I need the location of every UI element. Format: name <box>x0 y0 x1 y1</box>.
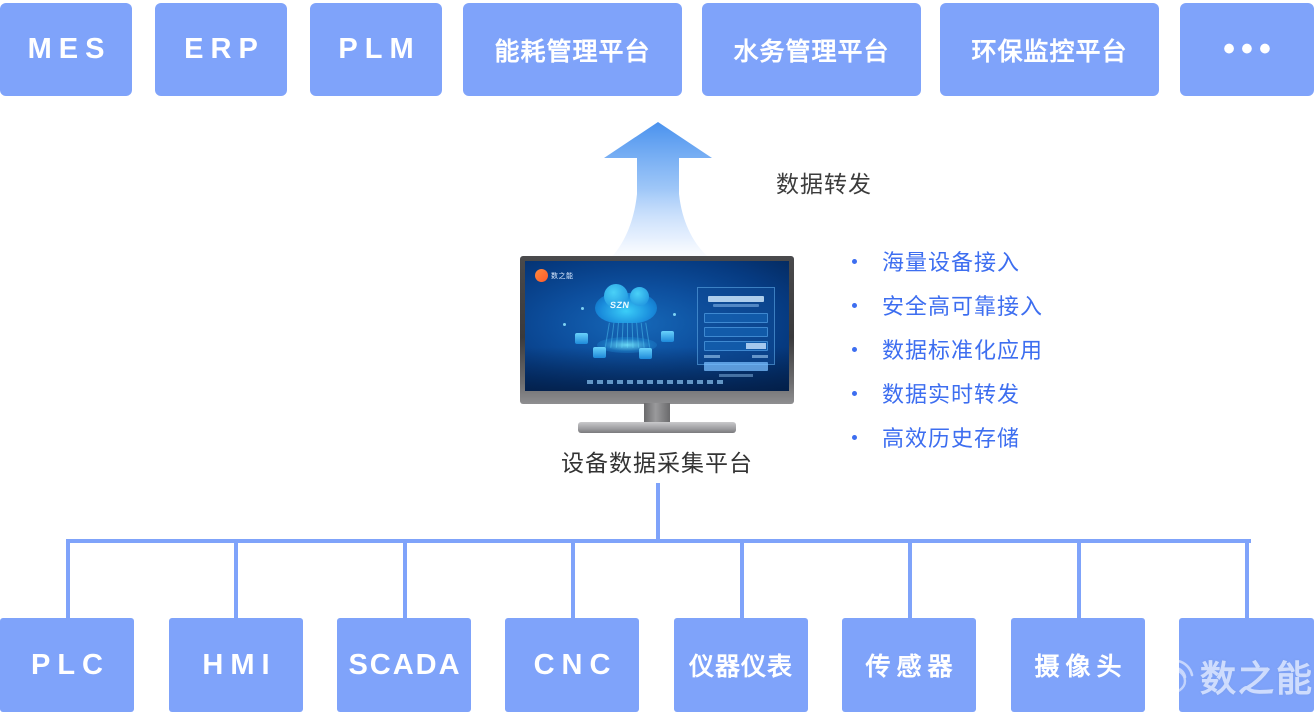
connector-drop-8 <box>1245 539 1249 619</box>
screen-ticker <box>587 380 727 384</box>
bottom-box-label: 仪器仪表 <box>689 647 793 683</box>
connector-drop-2 <box>234 539 238 619</box>
bottom-box-plc[interactable]: PLC <box>0 618 134 712</box>
top-box-label: PLM <box>331 33 420 66</box>
cloud-label: SZN <box>609 300 630 310</box>
connector-drop-1 <box>66 539 70 619</box>
center-caption: 设备数据采集平台 <box>520 444 794 478</box>
login-password-field <box>704 327 768 337</box>
list-item: 数据标准化应用 <box>852 333 1112 365</box>
connector-drop-4 <box>571 539 575 619</box>
login-footer-bar <box>719 374 753 377</box>
login-remember-bar <box>704 355 720 358</box>
connector-drop-6 <box>908 539 912 619</box>
bullet-dot-icon <box>852 303 857 308</box>
bottom-box-cnc[interactable]: CNC <box>505 618 639 712</box>
top-box-label: 能耗管理平台 <box>494 32 650 68</box>
top-box-water-platform[interactable]: 水务管理平台 <box>702 3 921 96</box>
bullet-dot-icon <box>852 391 857 396</box>
top-box-more[interactable]: ••• <box>1180 3 1314 96</box>
up-arrow-icon <box>588 122 738 270</box>
monitor-bezel: 数之能 SZN <box>520 256 794 404</box>
login-options-row <box>704 355 768 358</box>
bullet-dot-icon <box>852 259 857 264</box>
node-icon <box>593 347 606 358</box>
bullet-dot-icon <box>852 435 857 440</box>
watermark-text: 数之能 <box>1200 650 1314 702</box>
top-box-label: MES <box>21 33 112 66</box>
top-box-environment-platform[interactable]: 环保监控平台 <box>940 3 1159 96</box>
login-forgot-bar <box>752 355 768 358</box>
connector-stem <box>656 483 660 543</box>
top-box-label: ERP <box>177 33 265 66</box>
screen-logo-text: 数之能 <box>551 271 574 281</box>
login-captcha-field <box>704 341 768 351</box>
top-box-mes[interactable]: MES <box>0 3 132 96</box>
screen-login-panel <box>697 287 775 365</box>
bottom-box-label: 摄像头 <box>1028 647 1127 683</box>
connector-drop-7 <box>1077 539 1081 619</box>
screen-cloud-graphic: SZN <box>577 293 673 349</box>
bottom-box-scada[interactable]: SCADA <box>337 618 471 712</box>
monitor-icon: 数之能 SZN <box>520 256 794 434</box>
bottom-box-sensor[interactable]: 传感器 <box>842 618 976 712</box>
list-item: 海量设备接入 <box>852 245 1112 277</box>
node-icon <box>639 348 652 359</box>
feature-label: 数据实时转发 <box>882 377 1020 409</box>
bottom-box-label: CNC <box>527 649 618 682</box>
top-box-label: 水务管理平台 <box>733 32 889 68</box>
bottom-box-label: HMI <box>195 649 276 682</box>
screen-logo-mark-icon <box>535 269 548 282</box>
bottom-box-instruments[interactable]: 仪器仪表 <box>674 618 808 712</box>
bottom-box-label: 传感器 <box>859 647 958 683</box>
connector-drop-5 <box>740 539 744 619</box>
bottom-box-label: SCADA <box>346 649 461 682</box>
weibo-eye-icon <box>1148 656 1194 696</box>
top-box-erp[interactable]: ERP <box>155 3 287 96</box>
spark-dot-icon <box>563 323 566 326</box>
login-title-bar <box>708 296 764 302</box>
monitor-base <box>578 422 736 433</box>
list-item: 安全高可靠接入 <box>852 289 1112 321</box>
diagram-canvas: MES ERP PLM 能耗管理平台 水务管理平台 环保监控平台 ••• <box>0 0 1314 712</box>
bottom-box-label: PLC <box>24 649 110 682</box>
login-subtitle-bar <box>713 304 759 307</box>
node-icon <box>661 331 674 342</box>
top-box-energy-platform[interactable]: 能耗管理平台 <box>463 3 682 96</box>
monitor-screen: 数之能 SZN <box>525 261 789 391</box>
flow-label: 数据转发 <box>776 165 872 199</box>
bottom-box-hmi[interactable]: HMI <box>169 618 303 712</box>
feature-list: 海量设备接入 安全高可靠接入 数据标准化应用 数据实时转发 高效历史存储 <box>852 245 1112 465</box>
list-item: 高效历史存储 <box>852 421 1112 453</box>
feature-label: 高效历史存储 <box>882 421 1020 453</box>
login-username-field <box>704 313 768 323</box>
feature-label: 安全高可靠接入 <box>882 289 1043 321</box>
connector-bus <box>66 539 1251 543</box>
watermark: 数之能 <box>1148 650 1314 702</box>
feature-label: 海量设备接入 <box>882 245 1020 277</box>
bottom-box-camera[interactable]: 摄像头 <box>1011 618 1145 712</box>
login-submit-button <box>704 362 768 371</box>
top-box-label: 环保监控平台 <box>971 32 1127 68</box>
top-box-plm[interactable]: PLM <box>310 3 442 96</box>
screen-logo: 数之能 <box>535 269 574 282</box>
spark-dot-icon <box>673 313 676 316</box>
node-icon <box>575 333 588 344</box>
bullet-dot-icon <box>852 347 857 352</box>
spark-dot-icon <box>581 307 584 310</box>
list-item: 数据实时转发 <box>852 377 1112 409</box>
connector-drop-3 <box>403 539 407 619</box>
top-box-label: ••• <box>1217 43 1277 57</box>
feature-label: 数据标准化应用 <box>882 333 1043 365</box>
